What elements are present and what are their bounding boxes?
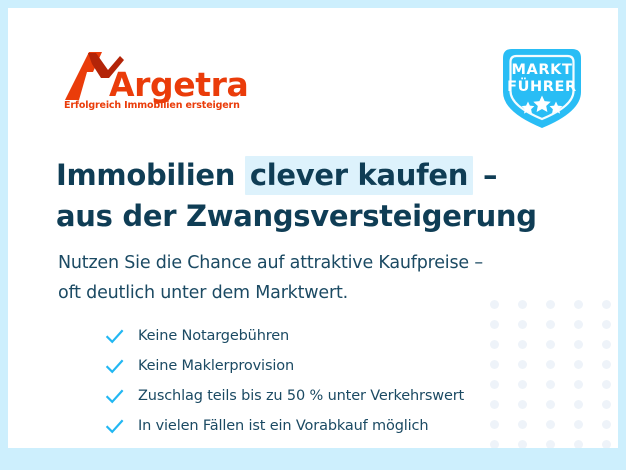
benefit-label: Keine Notargebühren xyxy=(138,328,289,344)
subtitle-line-1: Nutzen Sie die Chance auf attraktive Kau… xyxy=(58,248,578,278)
list-item: Keine Maklerprovision xyxy=(105,351,585,381)
benefits-list: Keine NotargebührenKeine Maklerprovision… xyxy=(65,321,585,441)
dot xyxy=(602,320,611,329)
headline-highlight: clever kaufen xyxy=(245,156,473,195)
subtitle: Nutzen Sie die Chance auf attraktive Kau… xyxy=(58,248,578,308)
argetra-logo[interactable]: Argetra Erfolgreich Immobilien ersteiger… xyxy=(63,50,263,120)
check-icon xyxy=(105,327,124,346)
dot xyxy=(602,360,611,369)
dot xyxy=(602,300,611,309)
headline-line-1: Immobilien clever kaufen – xyxy=(56,155,576,196)
headline-text-before: Immobilien xyxy=(56,158,245,192)
dot xyxy=(602,420,611,429)
badge-line-2: FÜHRER xyxy=(495,79,589,95)
dot xyxy=(602,380,611,389)
dot xyxy=(602,400,611,409)
dot xyxy=(602,440,611,448)
dot-row xyxy=(490,440,618,448)
badge-line-1: MARKT xyxy=(495,62,589,78)
list-item: Keine Notargebühren xyxy=(105,321,585,351)
dot xyxy=(518,440,527,448)
dot xyxy=(490,440,499,448)
check-icon xyxy=(105,357,124,376)
headline-line-2: aus der Zwangsversteigerung xyxy=(56,196,576,237)
check-icon xyxy=(105,417,124,436)
logo-tagline: Erfolgreich Immobilien ersteigern xyxy=(64,100,240,111)
list-item: Zuschlag teils bis zu 50 % unter Verkehr… xyxy=(105,381,585,411)
logo-wordmark: Argetra xyxy=(109,68,248,101)
dot xyxy=(602,340,611,349)
page-title: Immobilien clever kaufen – aus der Zwang… xyxy=(56,155,576,237)
check-icon xyxy=(105,387,124,406)
subtitle-line-2: oft deutlich unter dem Marktwert. xyxy=(58,278,578,308)
list-item: In vielen Fällen ist ein Vorabkauf mögli… xyxy=(105,411,585,441)
promo-banner: Argetra Erfolgreich Immobilien ersteiger… xyxy=(0,0,626,470)
benefit-label: Keine Maklerprovision xyxy=(138,358,294,374)
dot xyxy=(546,440,555,448)
headline-text-after: – xyxy=(473,158,497,192)
dot xyxy=(574,440,583,448)
banner-card: Argetra Erfolgreich Immobilien ersteiger… xyxy=(8,8,618,448)
benefit-label: In vielen Fällen ist ein Vorabkauf mögli… xyxy=(138,418,428,434)
benefit-label: Zuschlag teils bis zu 50 % unter Verkehr… xyxy=(138,388,464,404)
markt-fuehrer-badge: MARKT FÜHRER xyxy=(495,40,589,134)
